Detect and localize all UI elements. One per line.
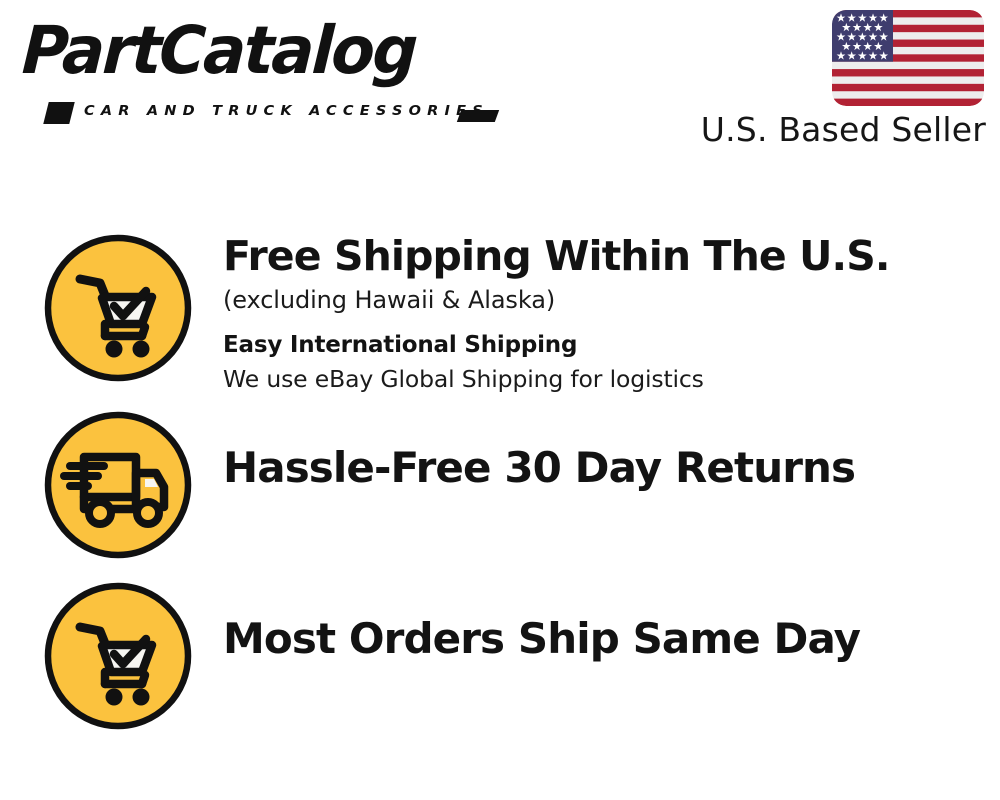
feature-subtext: We use eBay Global Shipping for logistic… (223, 364, 1000, 395)
feature-text-block: Hassle-Free 30 Day Returns (223, 409, 1000, 490)
feature-text-block: Most Orders Ship Same Day (223, 580, 1000, 661)
brand-wordmark: PartCatalog (21, 18, 418, 84)
us-flag-icon (832, 10, 984, 106)
seller-origin-block: U.S. Based Seller (688, 10, 988, 148)
feature-text-block: Free Shipping Within The U.S. (excluding… (223, 232, 1000, 394)
list-item: Most Orders Ship Same Day (0, 580, 1000, 732)
page-header: PartCatalog CAR AND TRUCK ACCESSORIES (0, 0, 1000, 175)
feature-note: (excluding Hawaii & Alaska) (223, 284, 1000, 316)
logo-accent-right (457, 110, 499, 122)
list-item: Hassle-Free 30 Day Returns (0, 409, 1000, 561)
feature-subtitle: Easy International Shipping (223, 331, 1000, 361)
feature-title: Free Shipping Within The U.S. (223, 234, 1000, 278)
feature-title: Hassle-Free 30 Day Returns (223, 445, 1000, 490)
shopping-cart-check-icon (42, 580, 194, 732)
feature-title: Most Orders Ship Same Day (223, 616, 1000, 661)
shopping-cart-check-icon (42, 232, 194, 384)
brand-logo[interactable]: PartCatalog CAR AND TRUCK ACCESSORIES (22, 18, 492, 118)
brand-tagline: CAR AND TRUCK ACCESSORIES (84, 104, 489, 119)
delivery-truck-icon (42, 409, 194, 561)
seller-label: U.S. Based Seller (688, 112, 986, 148)
list-item: Free Shipping Within The U.S. (excluding… (0, 232, 1000, 394)
logo-accent-left (43, 102, 74, 124)
